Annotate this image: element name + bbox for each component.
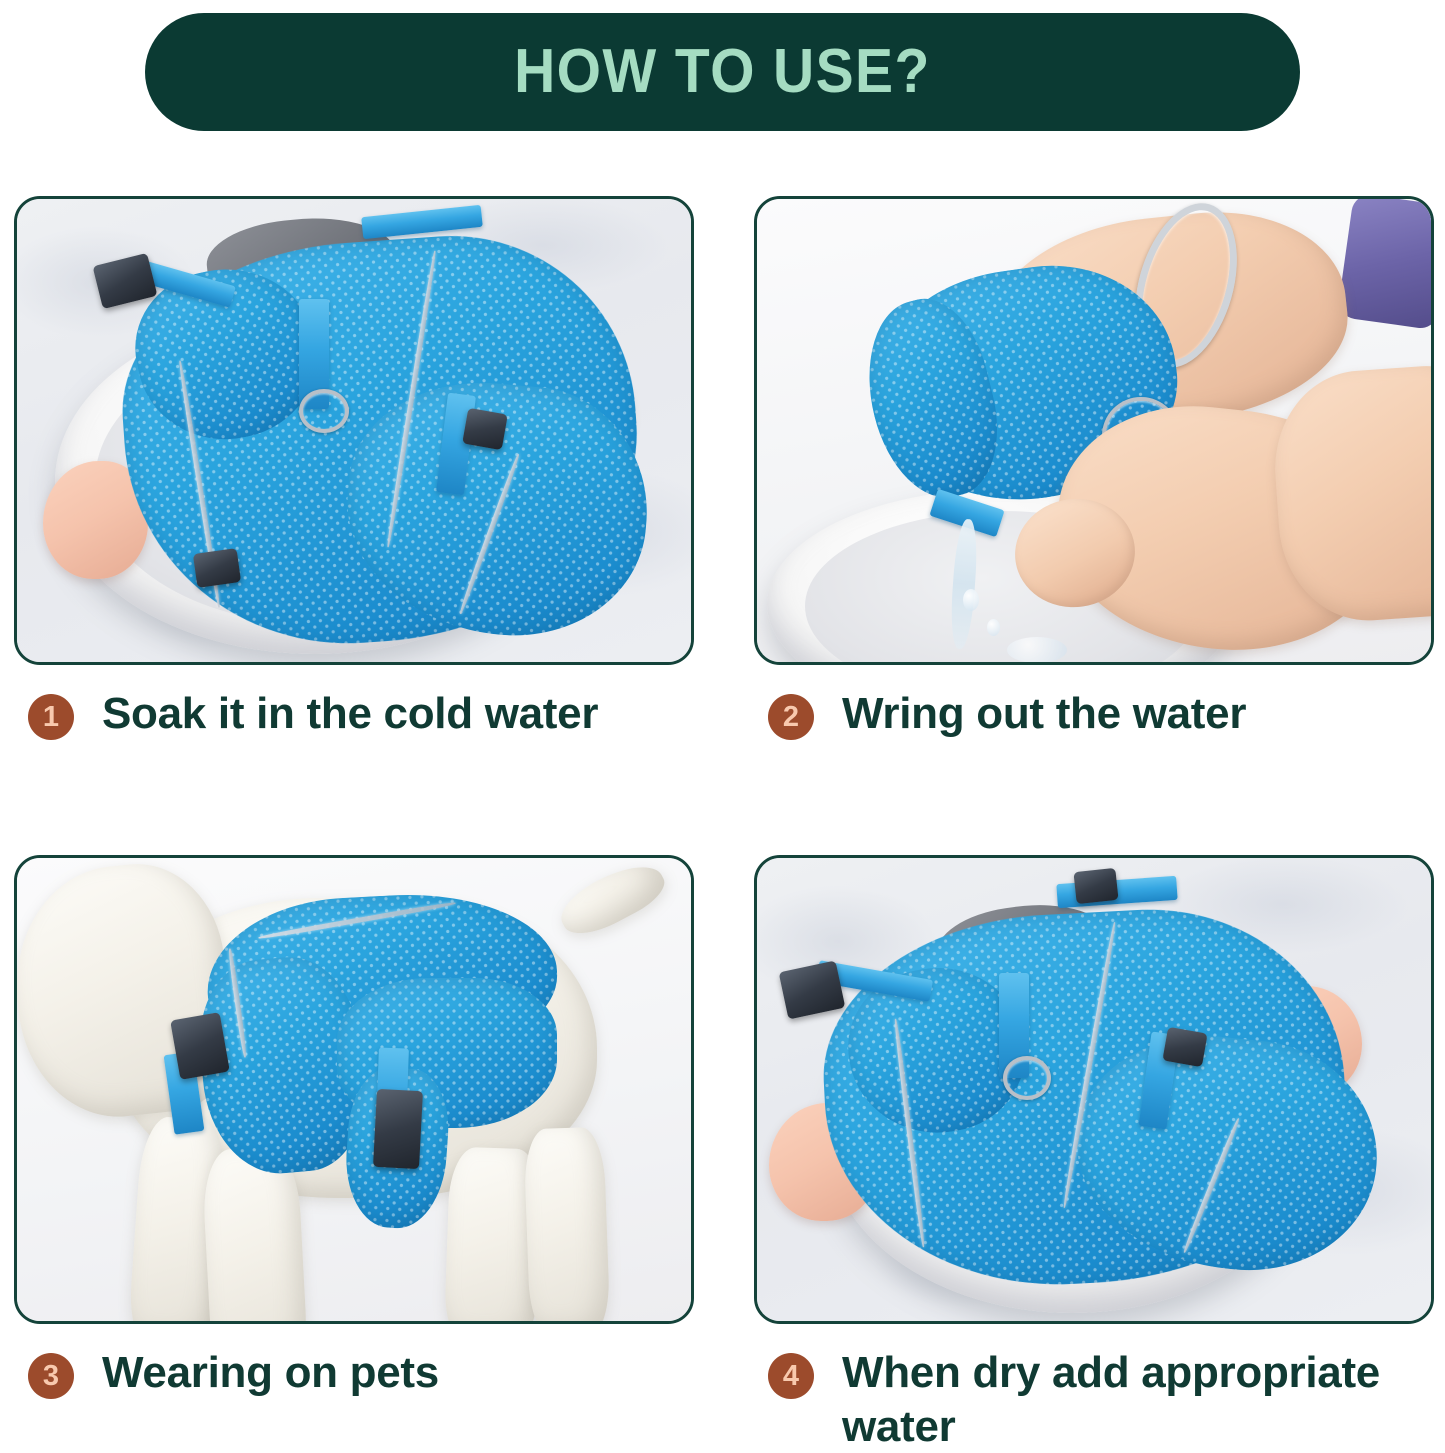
header-banner: HOW TO USE? [145,13,1300,131]
step-3-photo [14,855,694,1324]
step-3-caption: 3 Wearing on pets [14,1346,694,1400]
step-2-text: Wring out the water [842,687,1246,741]
step-4-caption: 4 When dry add appropriate water [754,1346,1434,1453]
harness-d-ring [1003,1056,1051,1100]
step-3: 3 Wearing on pets [14,855,694,1400]
step-4-text: When dry add appropriate water [842,1346,1434,1453]
step-1-text: Soak it in the cold water [102,687,598,741]
harness-top-buckle [1073,868,1118,904]
step-1-caption: 1 Soak it in the cold water [14,687,694,741]
page-title: HOW TO USE? [514,41,931,103]
wringing-harness-scene [757,199,1431,662]
purple-sleeve [1337,196,1434,330]
step-2-photo [754,196,1434,665]
water-droplet [963,589,979,611]
harness-in-basin-scene-2 [757,858,1431,1321]
dog-wearing-harness-scene [17,858,691,1321]
step-1: 1 Soak it in the cold water [14,196,694,741]
step-2: 2 Wring out the water [754,196,1434,741]
step-4-badge: 4 [768,1353,814,1399]
step-4-photo [754,855,1434,1324]
step-2-badge: 2 [768,694,814,740]
step-1-badge: 1 [28,694,74,740]
harness-belly-buckle [373,1089,423,1169]
harness-girth-buckle [1162,1027,1207,1067]
step-3-text: Wearing on pets [102,1346,439,1400]
step-1-photo [14,196,694,665]
harness-chest-buckle [170,1012,230,1080]
dog-hind-leg-far [523,1127,610,1324]
step-2-caption: 2 Wring out the water [754,687,1434,741]
water-droplet [987,619,1000,636]
steps-grid: 1 Soak it in the cold water [0,196,1445,1445]
harness-in-basin-scene [17,199,691,662]
water-splash [1007,637,1067,663]
step-4: 4 When dry add appropriate water [754,855,1434,1453]
step-3-badge: 3 [28,1353,74,1399]
how-to-use-infographic: HOW TO USE? [0,0,1445,1445]
harness-girth-buckle [462,408,508,450]
harness-lower-buckle [193,548,241,588]
harness-d-ring [299,389,349,433]
